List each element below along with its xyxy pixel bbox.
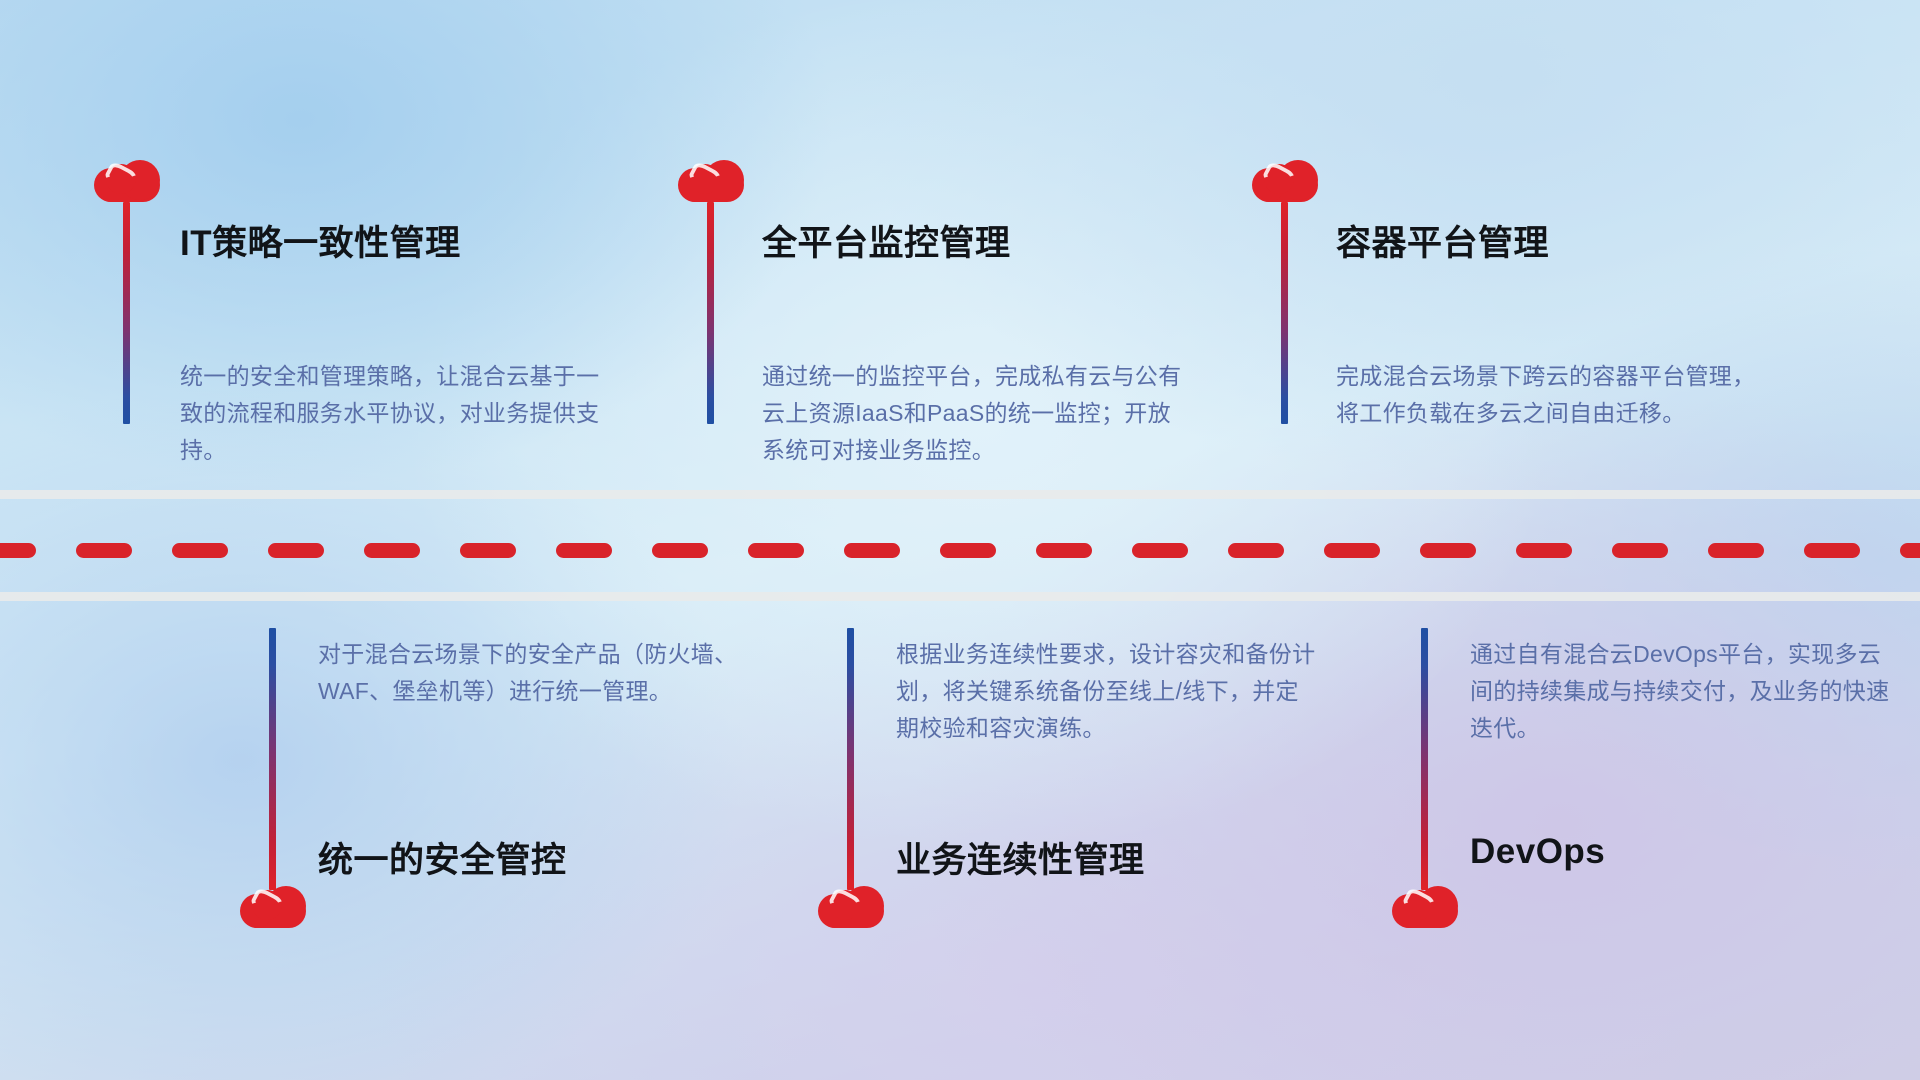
road-dash bbox=[76, 543, 132, 558]
marker-title: DevOps bbox=[1470, 832, 1605, 872]
pin-stem bbox=[269, 628, 276, 890]
road-edge-line-bottom bbox=[0, 592, 1920, 601]
marker-description: 根据业务连续性要求，设计容灾和备份计划，将关键系统备份至线上/线下，并定期校验和… bbox=[896, 636, 1316, 747]
marker-title: 容器平台管理 bbox=[1336, 215, 1549, 266]
cloud-pin-icon bbox=[818, 886, 884, 930]
road-edge-line-top bbox=[0, 490, 1920, 499]
marker-it-policy-consistency[interactable] bbox=[94, 160, 160, 204]
road-dash bbox=[1036, 543, 1092, 558]
marker-title: 统一的安全管控 bbox=[318, 832, 567, 883]
road-dash bbox=[748, 543, 804, 558]
pin-stem bbox=[1281, 202, 1288, 424]
road-dash bbox=[1132, 543, 1188, 558]
road-dash bbox=[172, 543, 228, 558]
cloud-pin-icon bbox=[240, 886, 306, 930]
road-dash bbox=[268, 543, 324, 558]
road-dash bbox=[1516, 543, 1572, 558]
road-dash bbox=[652, 543, 708, 558]
road-dash bbox=[1612, 543, 1668, 558]
road-center-dashes bbox=[0, 543, 1920, 558]
road-dash bbox=[1900, 543, 1920, 558]
marker-full-platform-monitoring[interactable] bbox=[678, 160, 744, 204]
road-dash bbox=[1228, 543, 1284, 558]
marker-description: 通过统一的监控平台，完成私有云与公有云上资源IaaS和PaaS的统一监控；开放系… bbox=[762, 358, 1182, 469]
pin-stem bbox=[847, 628, 854, 890]
pin-stem bbox=[1421, 628, 1428, 890]
road-dash bbox=[940, 543, 996, 558]
cloud-pin-icon bbox=[678, 160, 744, 204]
marker-description: 通过自有混合云DevOps平台，实现多云间的持续集成与持续交付，及业务的快速迭代… bbox=[1470, 636, 1890, 747]
marker-description: 完成混合云场景下跨云的容器平台管理，将工作负载在多云之间自由迁移。 bbox=[1336, 358, 1766, 432]
road-dash bbox=[1804, 543, 1860, 558]
road-dash bbox=[844, 543, 900, 558]
marker-title: 全平台监控管理 bbox=[762, 215, 1011, 266]
road-dash bbox=[0, 543, 36, 558]
road-dash bbox=[1420, 543, 1476, 558]
marker-title: 业务连续性管理 bbox=[896, 832, 1145, 883]
marker-container-platform[interactable] bbox=[1252, 160, 1318, 204]
marker-description: 统一的安全和管理策略，让混合云基于一致的流程和服务水平协议，对业务提供支持。 bbox=[180, 358, 600, 469]
pin-stem bbox=[707, 202, 714, 424]
marker-description: 对于混合云场景下的安全产品（防火墙、WAF、堡垒机等）进行统一管理。 bbox=[318, 636, 738, 710]
cloud-pin-icon bbox=[94, 160, 160, 204]
road-dash bbox=[556, 543, 612, 558]
pin-stem bbox=[123, 202, 130, 424]
infographic-canvas: IT策略一致性管理 统一的安全和管理策略，让混合云基于一致的流程和服务水平协议，… bbox=[0, 0, 1920, 1080]
cloud-pin-icon bbox=[1392, 886, 1458, 930]
road-dash bbox=[1708, 543, 1764, 558]
cloud-pin-icon bbox=[1252, 160, 1318, 204]
road-dash bbox=[460, 543, 516, 558]
road-dash bbox=[364, 543, 420, 558]
road-dash bbox=[1324, 543, 1380, 558]
marker-title: IT策略一致性管理 bbox=[180, 215, 461, 266]
